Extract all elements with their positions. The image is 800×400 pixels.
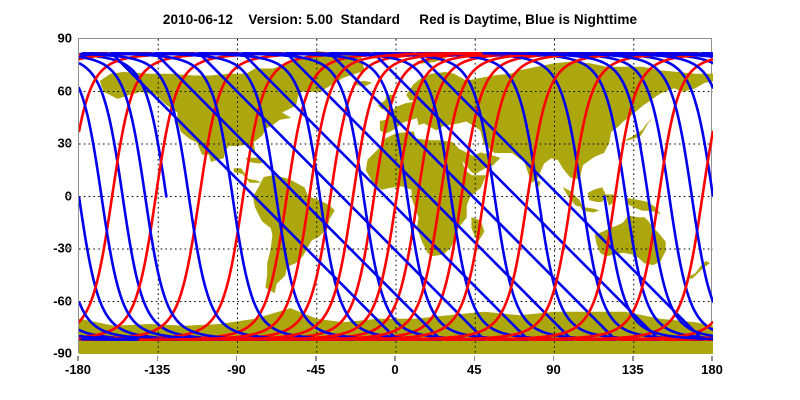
y-axis-tick-neg60: -60	[8, 293, 72, 308]
y-axis-tick-mark	[66, 247, 72, 249]
ground-track-figure: 2010-06-12 Version: 5.00 Standard Red is…	[0, 0, 800, 400]
y-axis-tick-neg30: -30	[8, 241, 72, 256]
x-axis-tick-mark	[474, 356, 476, 361]
landmass	[588, 188, 606, 202]
figure-title: 2010-06-12 Version: 5.00 Standard Red is…	[0, 12, 800, 27]
x-axis-tick-labels: -180-135-90-4504590135180	[78, 356, 712, 380]
x-axis-tick-135: 135	[622, 362, 644, 377]
x-axis-tick-mark	[236, 356, 238, 361]
x-axis-tick-mark	[77, 356, 79, 361]
y-axis-tick-neg90: -90	[8, 346, 72, 361]
y-axis-tick-60: 60	[8, 83, 72, 98]
y-axis-tick-mark	[66, 142, 72, 144]
x-axis-tick-mark	[315, 356, 317, 361]
x-axis-tick-180: 180	[701, 362, 723, 377]
plot-area-wrapper	[78, 38, 712, 353]
x-axis-tick-mark	[632, 356, 634, 361]
y-axis-tick-mark	[66, 90, 72, 92]
x-axis-tick-neg45: -45	[306, 362, 325, 377]
x-axis-tick-mark	[711, 356, 713, 361]
x-axis-tick-45: 45	[467, 362, 481, 377]
y-axis-tick-labels: 9060300-30-60-90	[0, 38, 72, 353]
nighttime-ground-track	[82, 339, 135, 340]
x-axis-tick-mark	[553, 356, 555, 361]
y-axis-tick-0: 0	[8, 188, 72, 203]
x-axis-tick-mark	[157, 356, 159, 361]
x-axis-tick-neg135: -135	[144, 362, 170, 377]
y-axis-tick-90: 90	[8, 31, 72, 46]
x-axis-tick-neg180: -180	[65, 362, 91, 377]
y-axis-tick-mark	[66, 195, 72, 197]
world-map-with-ground-tracks	[79, 39, 713, 354]
x-axis-tick-0: 0	[391, 362, 398, 377]
x-axis-tick-mark	[394, 356, 396, 361]
y-axis-tick-30: 30	[8, 136, 72, 151]
nighttime-ground-track	[79, 88, 102, 196]
x-axis-tick-neg90: -90	[227, 362, 246, 377]
x-axis-tick-90: 90	[546, 362, 560, 377]
map-plot-area	[78, 38, 712, 353]
y-axis-tick-mark	[66, 300, 72, 302]
